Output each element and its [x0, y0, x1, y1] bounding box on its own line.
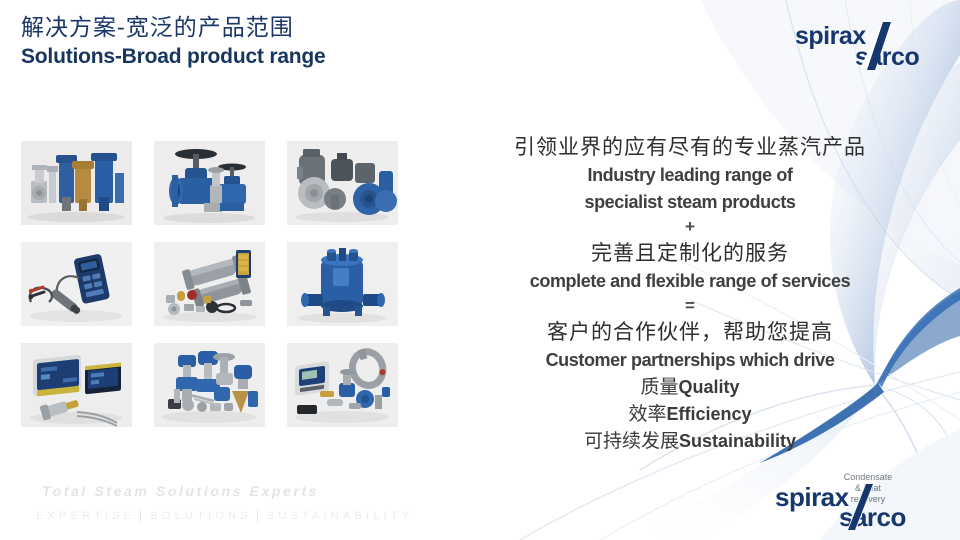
- tile-handheld-test-equipment[interactable]: [21, 242, 132, 326]
- footer-tagline: Total Steam Solutions Experts: [42, 483, 319, 499]
- message-line-6-cn: 客户的合作伙伴，帮助您提高: [470, 317, 910, 347]
- message-line-10: 可持续发展Sustainability: [470, 428, 910, 455]
- boiler-controllers-icon: [21, 343, 132, 427]
- operator-equals: =: [470, 295, 910, 317]
- footer-divider: [140, 509, 141, 523]
- footer-key-expertise: EXPERTISE: [36, 510, 135, 522]
- tile-flow-metering[interactable]: [287, 343, 398, 427]
- title-chinese: 解决方案-宽泛的产品范围: [21, 14, 326, 42]
- valve-actuator-range-icon: [154, 343, 265, 427]
- efficiency-label-cn: 效率: [628, 403, 666, 425]
- control-valves-blue-icon: [154, 141, 265, 225]
- tile-control-valves-blue[interactable]: [154, 141, 265, 225]
- grid-row: [21, 242, 398, 326]
- sustainability-label-cn: 可持续发展: [584, 430, 679, 452]
- message-line-1-cn: 引领业界的应有尽有的专业蒸汽产品: [470, 132, 910, 162]
- message-line-3-en: specialist steam products: [470, 189, 910, 216]
- message-line-7-en: Customer partnerships which drive: [470, 347, 910, 374]
- steam-traps-icon: [287, 141, 398, 225]
- handheld-test-equipment-icon: [21, 242, 132, 326]
- spirax-sarco-logo-bottom: spirax sarco: [775, 482, 935, 532]
- grid-row: [21, 343, 398, 427]
- operator-plus: +: [470, 216, 910, 238]
- tile-valve-actuator-range[interactable]: [154, 343, 265, 427]
- footer-key-solutions: SOLUTIONS: [150, 510, 251, 522]
- grid-row: [21, 141, 398, 225]
- slide: 解决方案-宽泛的产品范围 Solutions-Broad product ran…: [0, 0, 960, 540]
- spirax-sarco-logo-top: spirax sarco: [795, 20, 945, 72]
- footer-keywords: EXPERTISE SOLUTIONS SUSTAINABILITY: [36, 509, 413, 523]
- footer-divider: [257, 509, 258, 523]
- tile-boiler-controllers[interactable]: [21, 343, 132, 427]
- brand-logo-icon: spirax sarco: [775, 482, 935, 532]
- message-line-2-en: Industry leading range of: [470, 162, 910, 189]
- efficiency-label-en: Efficiency: [666, 404, 751, 424]
- message-line-9: 效率Efficiency: [470, 401, 910, 428]
- heat-exchangers-icon: [154, 242, 265, 326]
- brand-logo-icon: spirax sarco: [795, 20, 945, 72]
- quality-label-en: Quality: [679, 377, 740, 397]
- condensate-recovery-pump-icon: [287, 242, 398, 326]
- tile-heat-exchangers[interactable]: [154, 242, 265, 326]
- flow-metering-icon: [287, 343, 398, 427]
- footer-key-sustainability: SUSTAINABILITY: [267, 510, 414, 522]
- tile-safety-relief-valves[interactable]: [21, 141, 132, 225]
- safety-relief-valves-icon: [21, 141, 132, 225]
- quality-label-cn: 质量: [640, 376, 678, 398]
- message-line-5-en: complete and flexible range of services: [470, 268, 910, 295]
- message-line-4-cn: 完善且定制化的服务: [470, 238, 910, 268]
- message-block: 引领业界的应有尽有的专业蒸汽产品 Industry leading range …: [470, 132, 910, 455]
- page-title: 解决方案-宽泛的产品范围 Solutions-Broad product ran…: [21, 14, 326, 70]
- title-english: Solutions-Broad product range: [21, 44, 326, 70]
- product-image-grid: [21, 141, 398, 427]
- sustainability-label-en: Sustainability: [679, 431, 796, 451]
- tile-steam-traps[interactable]: [287, 141, 398, 225]
- message-line-8: 质量Quality: [470, 374, 910, 401]
- tile-condensate-recovery-pump[interactable]: [287, 242, 398, 326]
